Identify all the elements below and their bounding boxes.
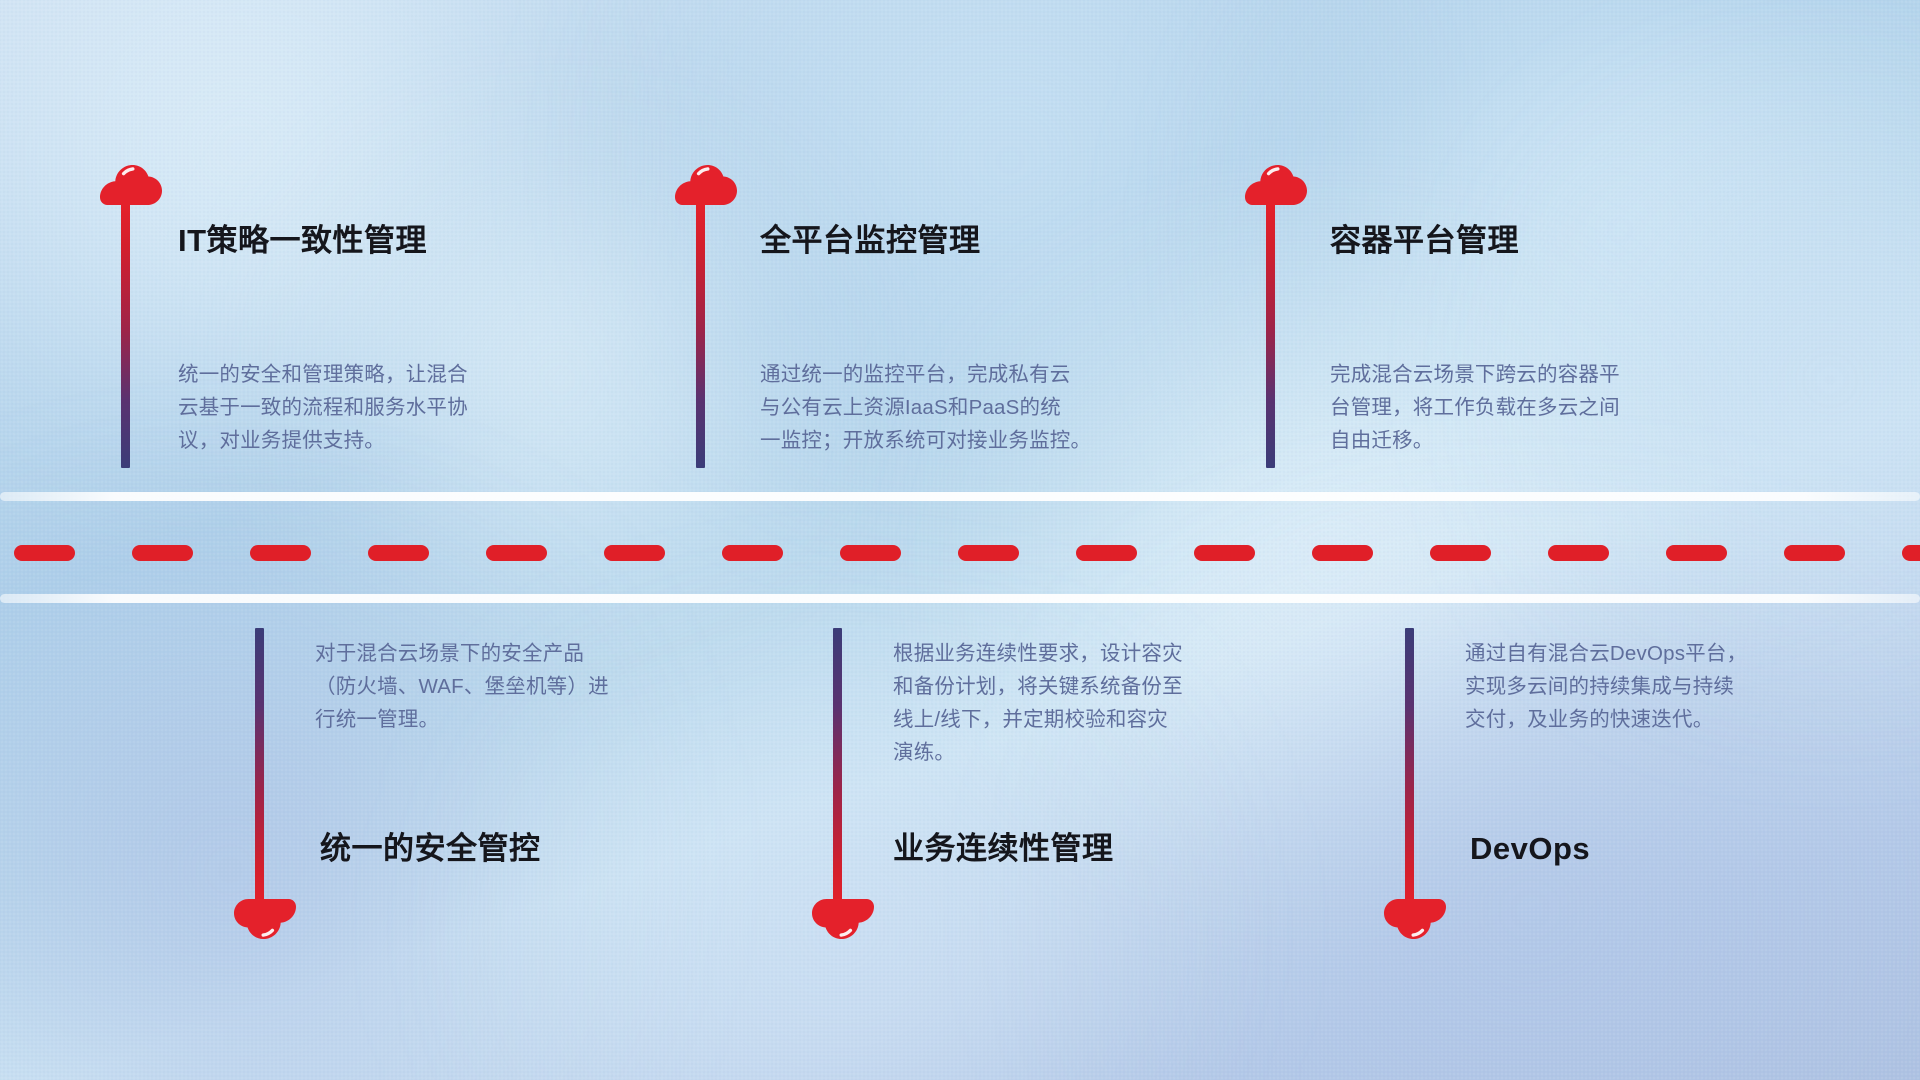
timeline-stem [121, 204, 130, 468]
timeline-stem [833, 628, 842, 908]
milestone-title: 业务连续性管理 [893, 833, 1114, 864]
road-dash [1784, 545, 1845, 561]
road-dash [368, 545, 429, 561]
milestone-description: 对于混合云场景下的安全产品 （防火墙、WAF、堡垒机等）进 行统一管理。 [315, 637, 609, 736]
milestone-description: 统一的安全和管理策略，让混合 云基于一致的流程和服务水平协 议，对业务提供支持。 [178, 358, 468, 457]
cloud-icon [234, 898, 296, 944]
infographic-canvas: IT策略一致性管理 统一的安全和管理策略，让混合 云基于一致的流程和服务水平协 … [0, 0, 1920, 1080]
milestone-title: 统一的安全管控 [320, 833, 541, 864]
road-dash [1902, 545, 1920, 561]
milestone-description: 完成混合云场景下跨云的容器平 台管理，将工作负载在多云之间 自由迁移。 [1330, 358, 1620, 457]
cloud-icon [675, 160, 737, 206]
road-edge-line-bottom [0, 594, 1920, 603]
milestone-description: 通过统一的监控平台，完成私有云 与公有云上资源IaaS和PaaS的统 一监控；开… [760, 358, 1091, 457]
road-dash [604, 545, 665, 561]
road-dash [722, 545, 783, 561]
timeline-stem [1405, 628, 1414, 908]
road-dash [132, 545, 193, 561]
timeline-stem [1266, 204, 1275, 468]
timeline-stem [255, 628, 264, 908]
road-dash [1076, 545, 1137, 561]
road-dash [14, 545, 75, 561]
road-edge-line-top [0, 492, 1920, 501]
cloud-icon [812, 898, 874, 944]
road-dash [1430, 545, 1491, 561]
road-dash [486, 545, 547, 561]
milestone-title: 全平台监控管理 [760, 225, 981, 256]
timeline-stem [696, 204, 705, 468]
road-dash [250, 545, 311, 561]
cloud-icon [100, 160, 162, 206]
milestone-description: 根据业务连续性要求，设计容灾 和备份计划，将关键系统备份至 线上/线下，并定期校… [893, 637, 1183, 769]
cloud-icon [1245, 160, 1307, 206]
cloud-icon [1384, 898, 1446, 944]
road-dash [840, 545, 901, 561]
milestone-title: DevOps [1470, 833, 1590, 864]
road-dashed-centerline [0, 544, 1920, 562]
road-dash [1194, 545, 1255, 561]
milestone-description: 通过自有混合云DevOps平台， 实现多云间的持续集成与持续 交付，及业务的快速… [1465, 637, 1747, 736]
milestone-title: IT策略一致性管理 [178, 225, 427, 256]
road-dash [1312, 545, 1373, 561]
road-dash [958, 545, 1019, 561]
milestone-title: 容器平台管理 [1330, 225, 1519, 256]
road-dash [1548, 545, 1609, 561]
road-dash [1666, 545, 1727, 561]
